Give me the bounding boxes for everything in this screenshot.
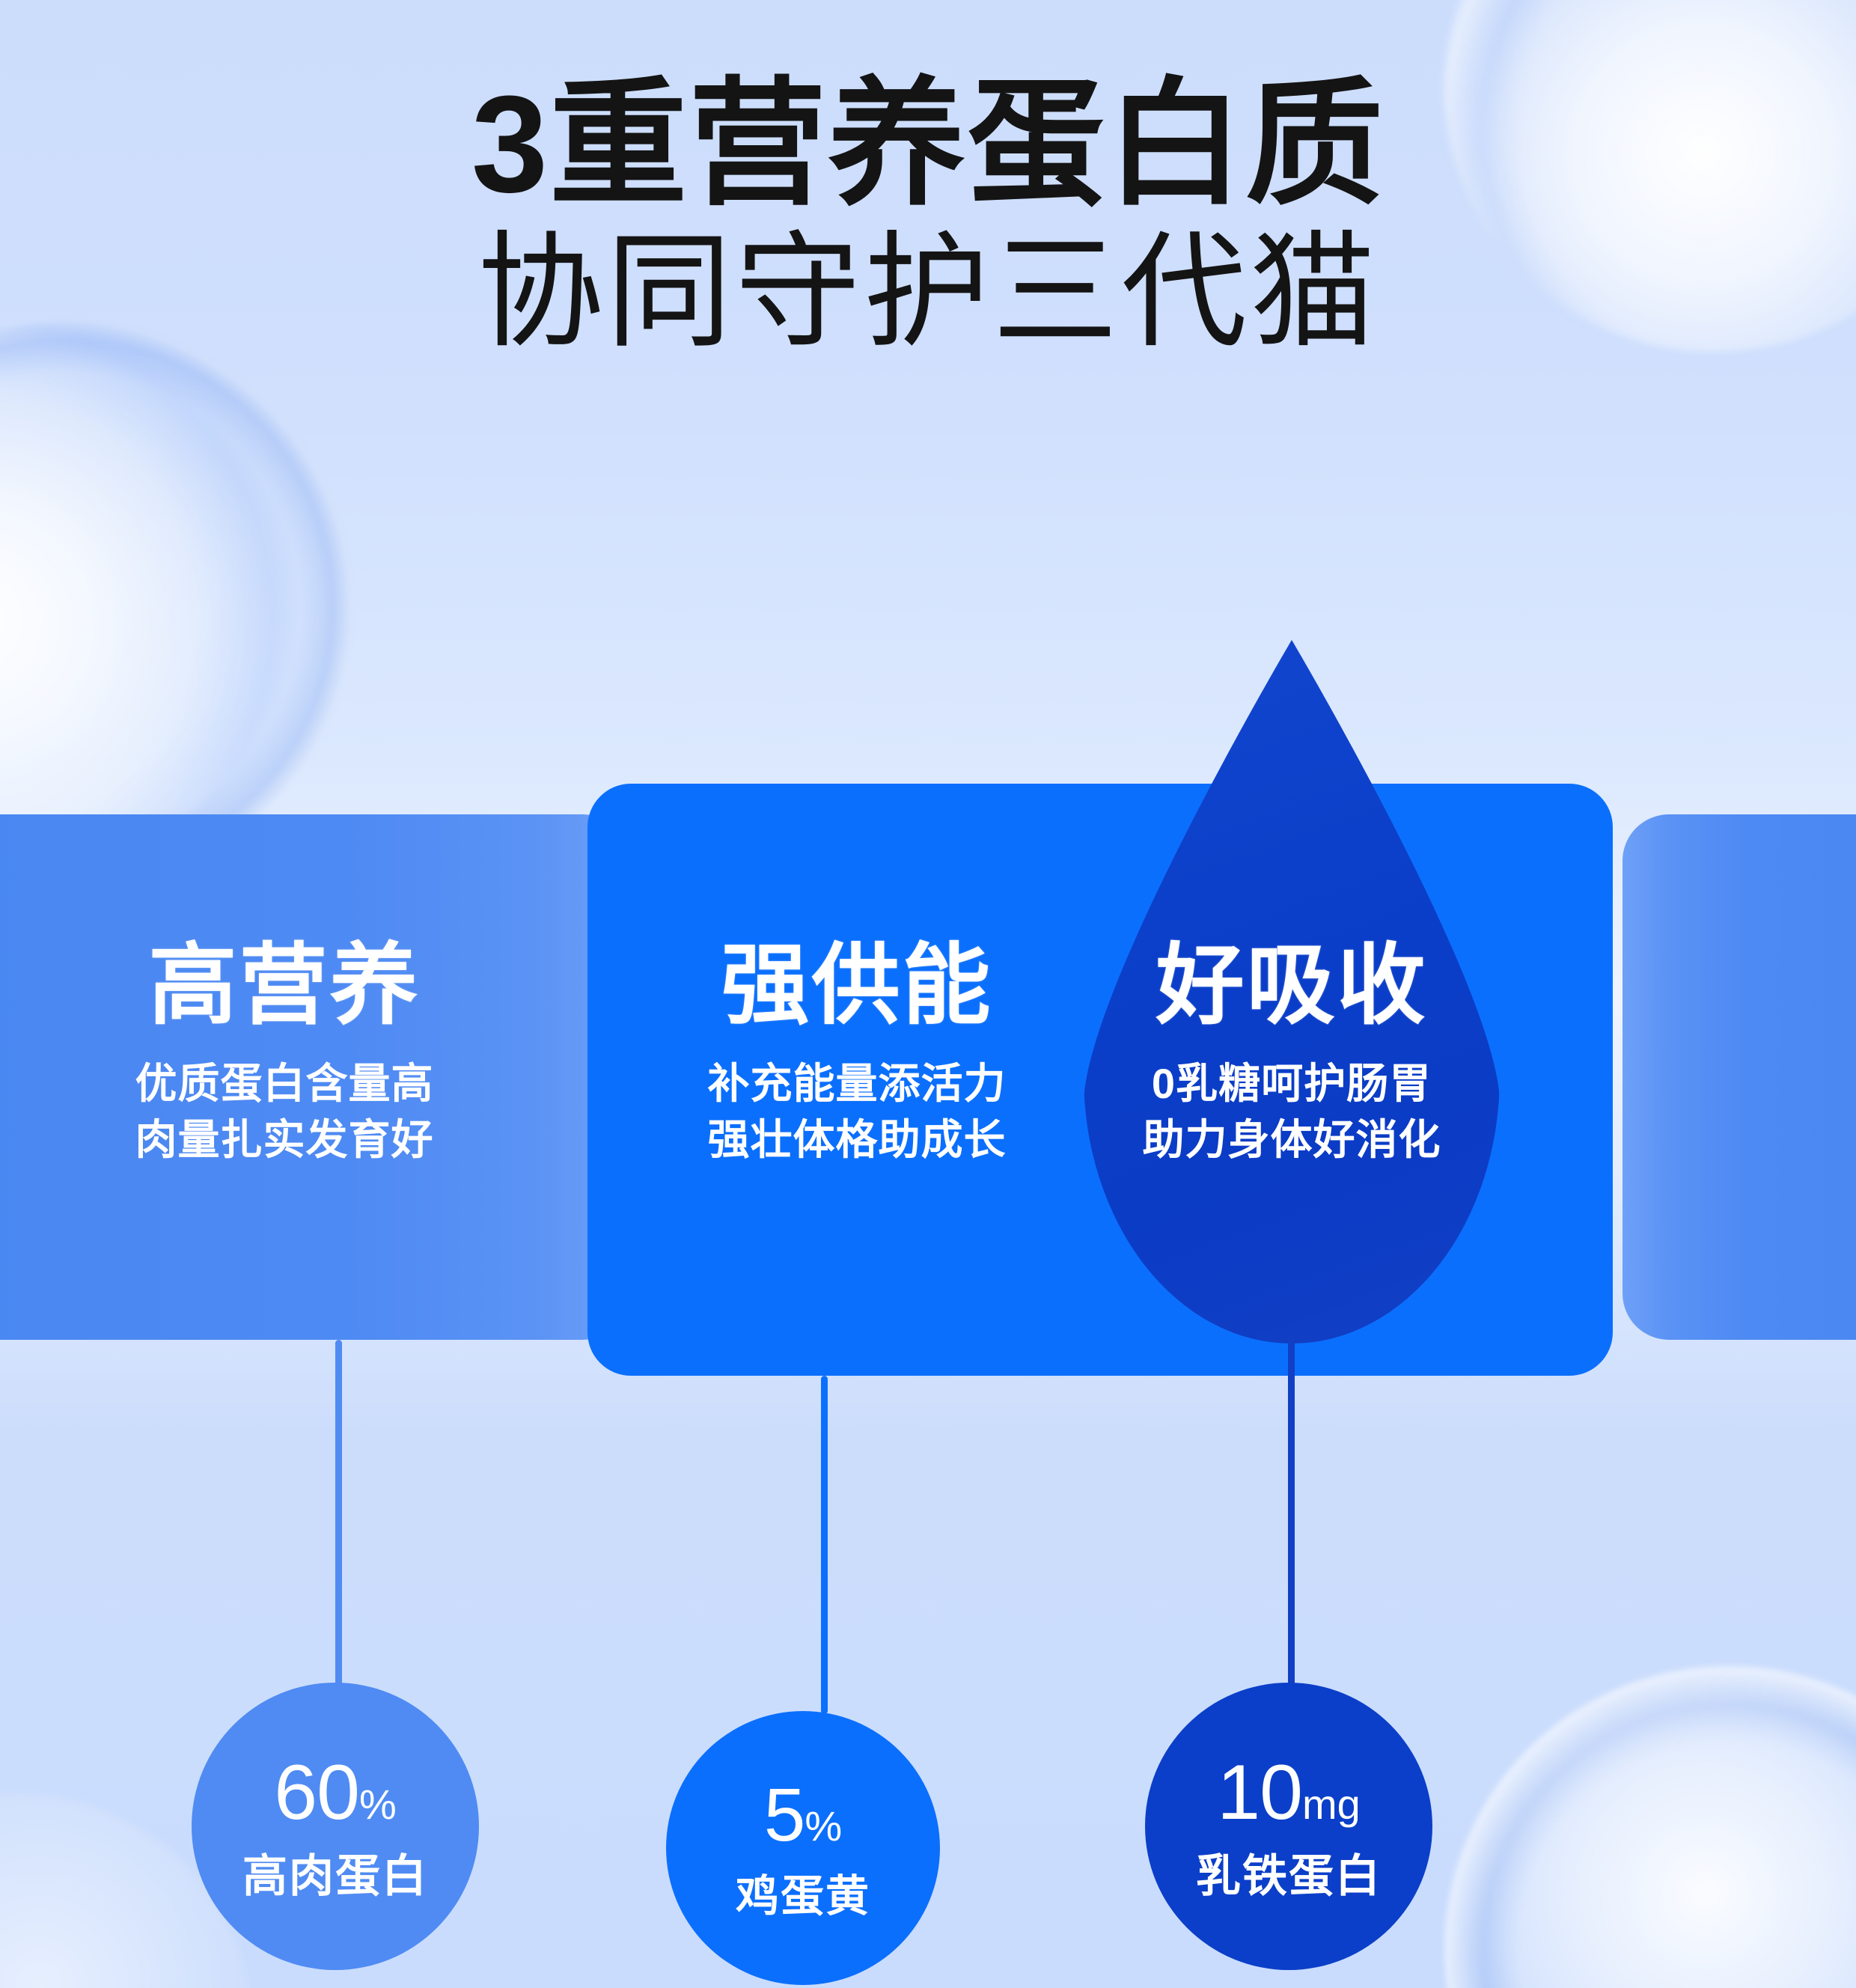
stat-circle-egg-yolk: 5% 鸡蛋黄	[666, 1711, 940, 1985]
feature-sub1-high-nutrition: 优质蛋白含量高	[0, 1055, 569, 1112]
stat-label-egg-yolk: 鸡蛋黄	[736, 1875, 870, 1918]
stat-circle-lactoferrin: 10mg 乳铁蛋白	[1145, 1683, 1432, 1970]
connector-line-egg-yolk	[821, 1376, 828, 1714]
stat-label-lactoferrin: 乳铁蛋白	[1196, 1854, 1382, 1899]
feature-title-strong-energy: 强供能	[587, 942, 1126, 1030]
feature-text-strong-energy: 强供能 补充能量添活力 强壮体格助成长	[587, 942, 1126, 1168]
feature-sub2-good-absorption: 助力身体好消化	[1084, 1112, 1500, 1168]
feature-sub2-strong-energy: 强壮体格助成长	[587, 1112, 1126, 1168]
feature-sub2-high-nutrition: 肉量扎实发育好	[0, 1112, 569, 1168]
feature-text-good-absorption: 好吸收 0乳糖呵护肠胃 助力身体好消化	[1084, 942, 1500, 1168]
stat-value-lactoferrin: 10mg	[1217, 1754, 1360, 1832]
feature-title-good-absorption: 好吸收	[1084, 942, 1500, 1030]
connector-line-meat-protein	[335, 1340, 342, 1686]
feature-sub1-good-absorption: 0乳糖呵护肠胃	[1084, 1055, 1500, 1112]
stat-circle-meat-protein: 60% 高肉蛋白	[192, 1683, 479, 1970]
feature-sub1-strong-energy: 补充能量添活力	[587, 1055, 1126, 1112]
connector-line-lactoferrin	[1288, 1334, 1295, 1686]
feature-title-high-nutrition: 高营养	[0, 942, 569, 1030]
stat-value-meat-protein: 60%	[274, 1754, 396, 1832]
stat-value-egg-yolk: 5%	[764, 1778, 842, 1853]
infographic-canvas: 3重营养蛋白质 协同守护三代猫 高营养 优质蛋白含量高 肉量扎实发育好 强供能 …	[0, 0, 1856, 1988]
feature-card-good-absorption	[1623, 814, 1856, 1340]
feature-text-high-nutrition: 高营养 优质蛋白含量高 肉量扎实发育好	[0, 942, 569, 1168]
stat-label-meat-protein: 高肉蛋白	[242, 1854, 428, 1899]
